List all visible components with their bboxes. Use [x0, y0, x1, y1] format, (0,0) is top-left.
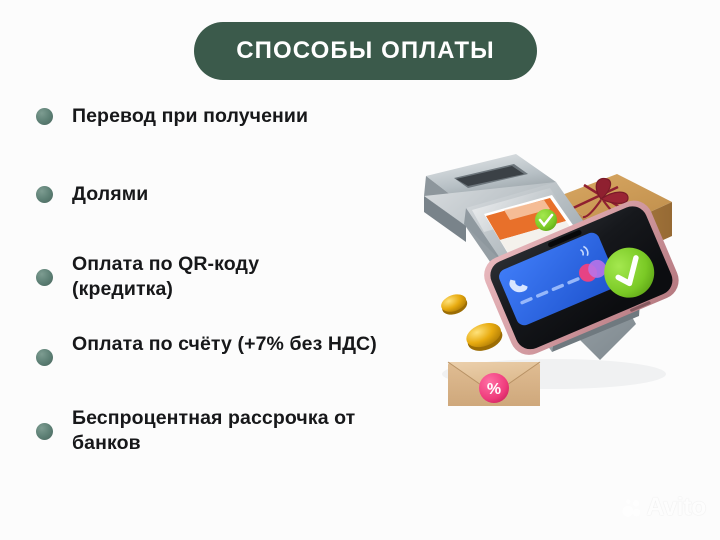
avito-watermark-text: Avito: [646, 493, 706, 522]
list-item: Перевод при получении: [36, 104, 308, 129]
avito-dots-icon: [621, 497, 643, 519]
list-item: Оплата по QR-коду (кредитка): [36, 252, 322, 302]
envelope-icon: %: [448, 362, 540, 406]
percent-seal-icon: %: [479, 373, 509, 403]
list-item-label: Перевод при получении: [72, 104, 308, 129]
page-title-pill: СПОСОБЫ ОПЛАТЫ: [194, 22, 537, 80]
list-item: Беспроцентная рассрочка от банков: [36, 406, 408, 456]
page-title: СПОСОБЫ ОПЛАТЫ: [236, 37, 495, 65]
bullet-dot-icon: [36, 423, 53, 440]
bullet-dot-icon: [36, 108, 53, 125]
payment-devices-illustration: PRINT: [404, 138, 704, 406]
list-item-label: Оплата по QR-коду (кредитка): [72, 252, 322, 302]
list-item-label: Беспроцентная рассрочка от банков: [72, 406, 408, 456]
bullet-dot-icon: [36, 349, 53, 366]
bullet-dot-icon: [36, 186, 53, 203]
list-item: Оплата по счёту (+7% без НДС): [36, 332, 377, 366]
percent-seal-label: %: [487, 381, 501, 398]
list-item: Долями: [36, 182, 148, 207]
avito-watermark: Avito: [621, 493, 706, 522]
list-item-label: Оплата по счёту (+7% без НДС): [72, 332, 377, 357]
pos-check-badge: [535, 209, 557, 231]
list-item-label: Долями: [72, 182, 148, 207]
bullet-dot-icon: [36, 269, 53, 286]
